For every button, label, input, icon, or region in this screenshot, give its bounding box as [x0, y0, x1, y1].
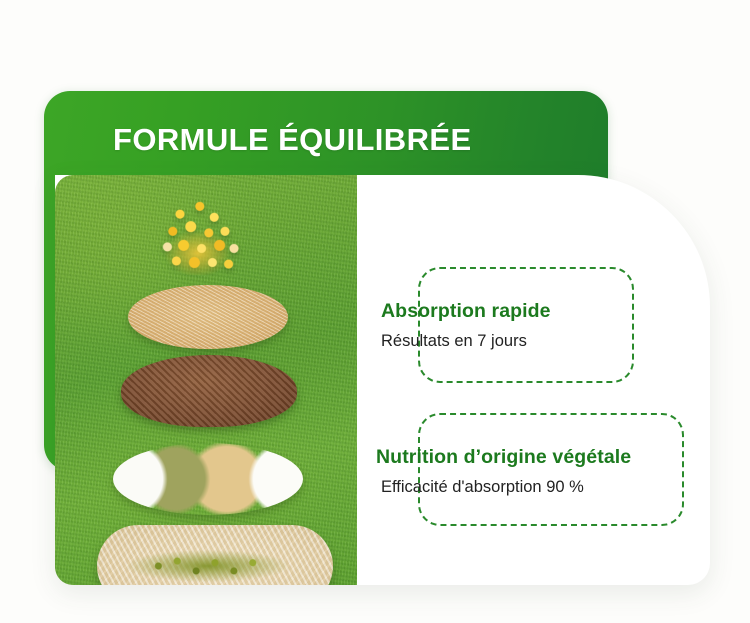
feature-subtitle-absorption-rapide: Résultats en 7 jours [381, 332, 527, 351]
page-title: FORMULE ÉQUILIBRÉE [113, 118, 593, 162]
straw-pile-icon [128, 285, 288, 349]
feature-title-nutrition-origine-vegetale: Nutrition d’origine végétale [376, 446, 631, 469]
feature-subtitle-nutrition-origine-vegetale: Efficacité d'absorption 90 % [381, 478, 584, 497]
brown-powder-pile-icon [121, 355, 297, 427]
feature-box-nutrition-origine-vegetale[interactable] [418, 413, 684, 526]
promo-card: FORMULE ÉQUILIBRÉE Absorption rapide Rés… [0, 0, 750, 623]
mixed-powder-pile-icon [113, 443, 303, 515]
ingredients-photo [55, 175, 357, 585]
oats-and-beans-pile-icon [97, 525, 333, 585]
corn-kernels-pile-icon [153, 197, 243, 275]
feature-title-absorption-rapide: Absorption rapide [381, 300, 551, 323]
feature-box-absorption-rapide[interactable] [418, 267, 634, 383]
